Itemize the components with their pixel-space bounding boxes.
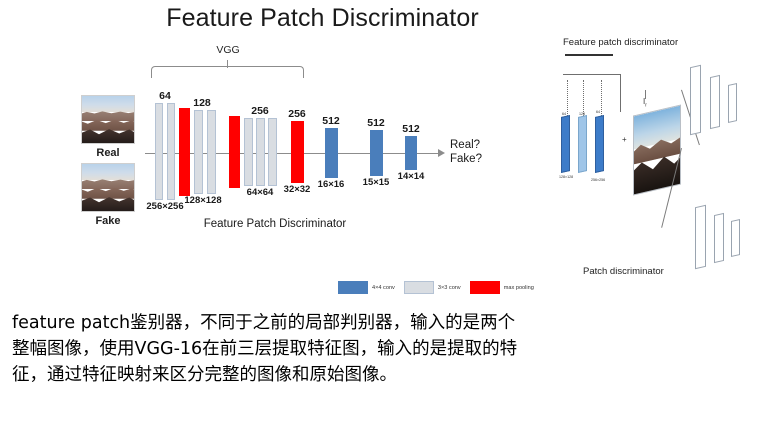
diagram-caption: Feature Patch Discriminator <box>150 218 400 230</box>
body-text: feature patch鉴别器，不同于之前的局部判别器，输入的是两个整幅图像，… <box>12 310 532 388</box>
output-real-text: Real? <box>450 138 482 152</box>
vgg-brace-tick <box>227 60 228 68</box>
channel-label-512-a: 512 <box>311 115 351 127</box>
maxpool-bar-2 <box>229 116 240 188</box>
channel-label-512-c: 512 <box>391 123 431 135</box>
legend-swatch-gray <box>404 281 434 294</box>
rp-feature-slab-3 <box>595 115 604 173</box>
resolution-label-14: 14×14 <box>383 171 439 182</box>
rp-bottom-slab-3 <box>731 219 740 257</box>
conv-bar-64-a <box>155 103 163 200</box>
right-panel-underline <box>565 54 613 56</box>
rp-feature-slab-2 <box>578 115 587 173</box>
rp-dotted-3 <box>601 80 602 116</box>
rp-dotted-2 <box>583 80 584 116</box>
maxpool-bar-1 <box>179 108 190 196</box>
rp-top-slab-1 <box>690 65 701 136</box>
rp-tiny-label-1: 64 <box>562 112 566 116</box>
conv-bar-512-b <box>370 130 383 176</box>
legend-label-max-pooling: max pooling <box>504 285 534 291</box>
channel-label-64: 64 <box>145 90 185 102</box>
rp-tiny-label-2: 128 <box>579 112 585 116</box>
rp-tiny-label-4: 128×128 <box>559 175 573 179</box>
right-panel-bottom-title: Patch discriminator <box>583 266 664 277</box>
main-architecture-diagram: VGG Real Fake 64 256×256 128 128×128 256… <box>0 38 540 288</box>
legend: 4×4 conv 3×3 conv max pooling <box>338 281 543 294</box>
right-reference-figure: Feature patch discriminator 64 128 64 12… <box>545 28 774 290</box>
legend-swatch-red <box>470 281 500 294</box>
real-image-thumbnail <box>81 95 135 144</box>
rp-symbol-tick <box>645 90 646 99</box>
real-label: Real <box>81 147 135 159</box>
output-fake-text: Fake? <box>450 152 482 166</box>
rp-bottom-slab-1 <box>695 205 706 270</box>
rp-connector-down <box>620 74 621 112</box>
rp-plus-icon: + <box>622 135 627 144</box>
rp-tiny-label-5: 256×256 <box>591 178 605 182</box>
rp-bottom-slab-2 <box>714 213 724 263</box>
conv-bar-256-a <box>244 118 253 186</box>
fake-label: Fake <box>81 215 135 227</box>
maxpool-bar-3 <box>291 121 304 183</box>
fake-image-thumbnail <box>81 163 135 212</box>
legend-item-4x4-conv: 4×4 conv <box>338 281 395 294</box>
right-panel-top-title: Feature patch discriminator <box>563 37 678 48</box>
rp-tiny-label-3: 64 <box>596 110 600 114</box>
rp-top-slab-2 <box>710 75 720 129</box>
conv-bar-512-c <box>405 136 417 170</box>
conv-bar-512-a <box>325 128 338 178</box>
channel-label-512-b: 512 <box>356 117 396 129</box>
rp-input-photo <box>633 104 681 195</box>
legend-item-max-pooling: max pooling <box>470 281 534 294</box>
legend-swatch-blue <box>338 281 368 294</box>
thumbnail-sky <box>82 164 134 180</box>
rp-connector-top <box>563 74 621 75</box>
thumbnail-sky <box>82 96 134 112</box>
conv-bar-128-a <box>194 110 203 194</box>
legend-label-4x4-conv: 4×4 conv <box>372 285 395 291</box>
conv-bar-128-b <box>207 110 216 194</box>
legend-label-3x3-conv: 3×3 conv <box>438 285 461 291</box>
rp-feature-slab-1 <box>561 115 570 173</box>
rp-top-slab-3 <box>728 83 737 123</box>
rp-dotted-1 <box>567 80 568 116</box>
rp-image-symbol-sub: r <box>645 103 647 109</box>
channel-label-128: 128 <box>182 97 222 109</box>
channel-label-256-a: 256 <box>240 105 280 117</box>
conv-bar-256-b <box>256 118 265 186</box>
resolution-label-128: 128×128 <box>175 195 231 206</box>
conv-bar-256-c <box>268 118 277 186</box>
flow-axis-arrow <box>438 149 445 157</box>
output-label: Real? Fake? <box>450 138 482 166</box>
vgg-label: VGG <box>190 44 266 56</box>
legend-item-3x3-conv: 3×3 conv <box>404 281 461 294</box>
conv-bar-64-b <box>167 103 175 200</box>
